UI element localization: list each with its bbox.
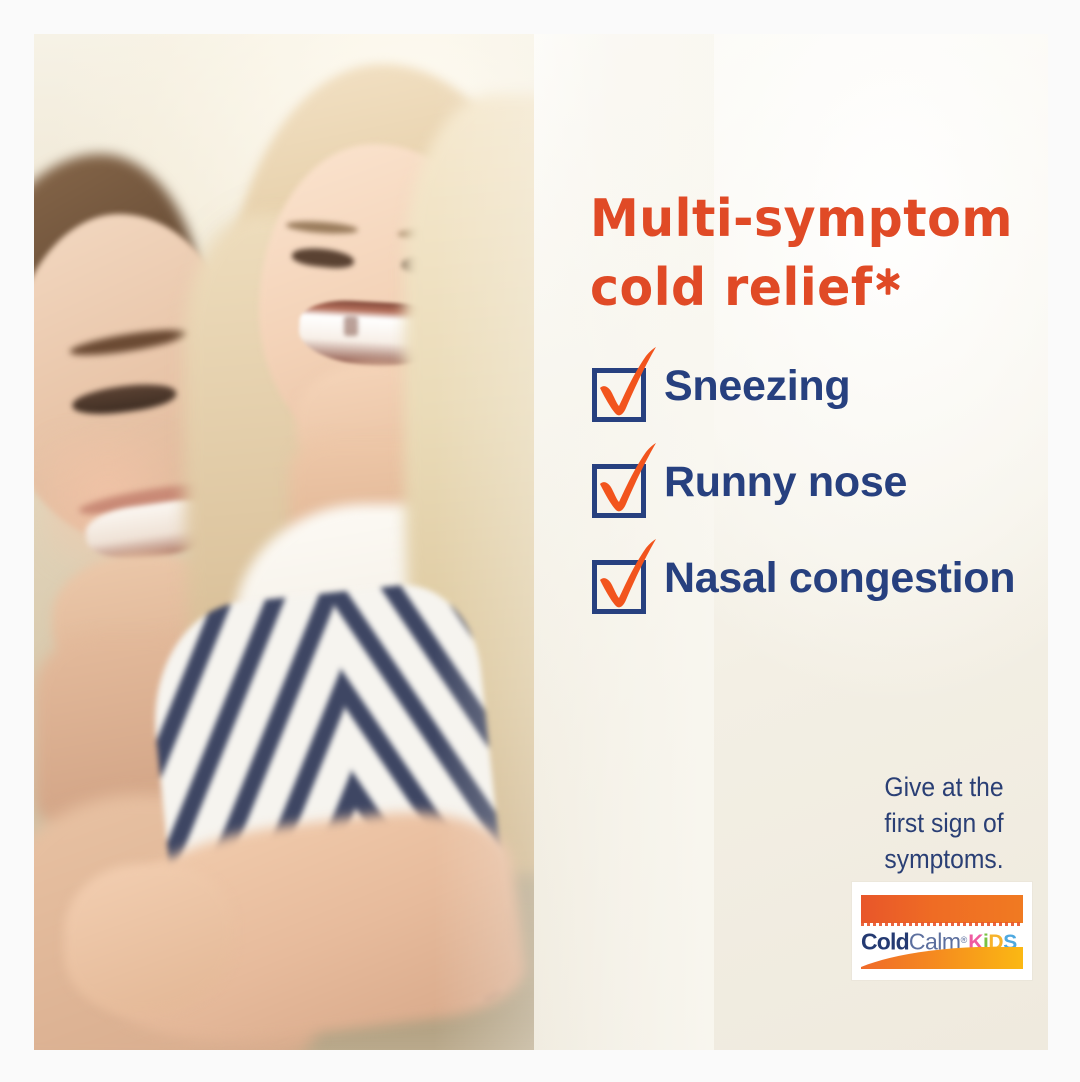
checkbox-box xyxy=(592,464,646,518)
symptom-label: Runny nose xyxy=(664,458,907,507)
coldcalm-kids-logo[interactable]: ColdCalm®KiDS xyxy=(852,882,1032,980)
list-item[interactable]: Nasal congestion xyxy=(592,554,1032,612)
girl-teeth-gap xyxy=(344,316,358,336)
symptom-label: Sneezing xyxy=(664,362,850,411)
logo-top-bar xyxy=(861,895,1023,923)
list-item[interactable]: Sneezing xyxy=(592,362,1032,420)
checkbox-box xyxy=(592,368,646,422)
checkbox-checked-icon[interactable] xyxy=(592,368,644,420)
headline-line-1: Multi-symptom xyxy=(590,184,1030,253)
callout-text: Give at the first sign of symptoms. xyxy=(860,769,1027,877)
checkbox-checked-icon[interactable] xyxy=(592,560,644,612)
list-item[interactable]: Runny nose xyxy=(592,458,1032,516)
ad-content: Multi-symptom cold relief Sneezing xyxy=(554,34,1048,1050)
logo-swoosh xyxy=(861,947,1023,969)
headline-line-2: cold relief xyxy=(590,253,1030,322)
headline-line-2-text: cold relief xyxy=(590,257,873,317)
asterisk-icon xyxy=(873,265,903,297)
checkbox-box xyxy=(592,560,646,614)
callout-line-2: first sign of xyxy=(860,805,1027,841)
checkbox-checked-icon[interactable] xyxy=(592,464,644,516)
callout-line-1: Give at the xyxy=(860,769,1027,805)
symptom-list: Sneezing Runny nose xyxy=(592,362,1032,612)
ad-canvas: Multi-symptom cold relief Sneezing xyxy=(0,0,1080,1082)
ad-card: Multi-symptom cold relief Sneezing xyxy=(34,34,1048,1050)
callout-line-3: symptoms. xyxy=(860,841,1027,877)
page-title: Multi-symptom cold relief xyxy=(590,184,1030,322)
registered-mark: ® xyxy=(961,935,968,945)
symptom-label: Nasal congestion xyxy=(664,554,1015,603)
woman-hand xyxy=(64,864,234,1014)
